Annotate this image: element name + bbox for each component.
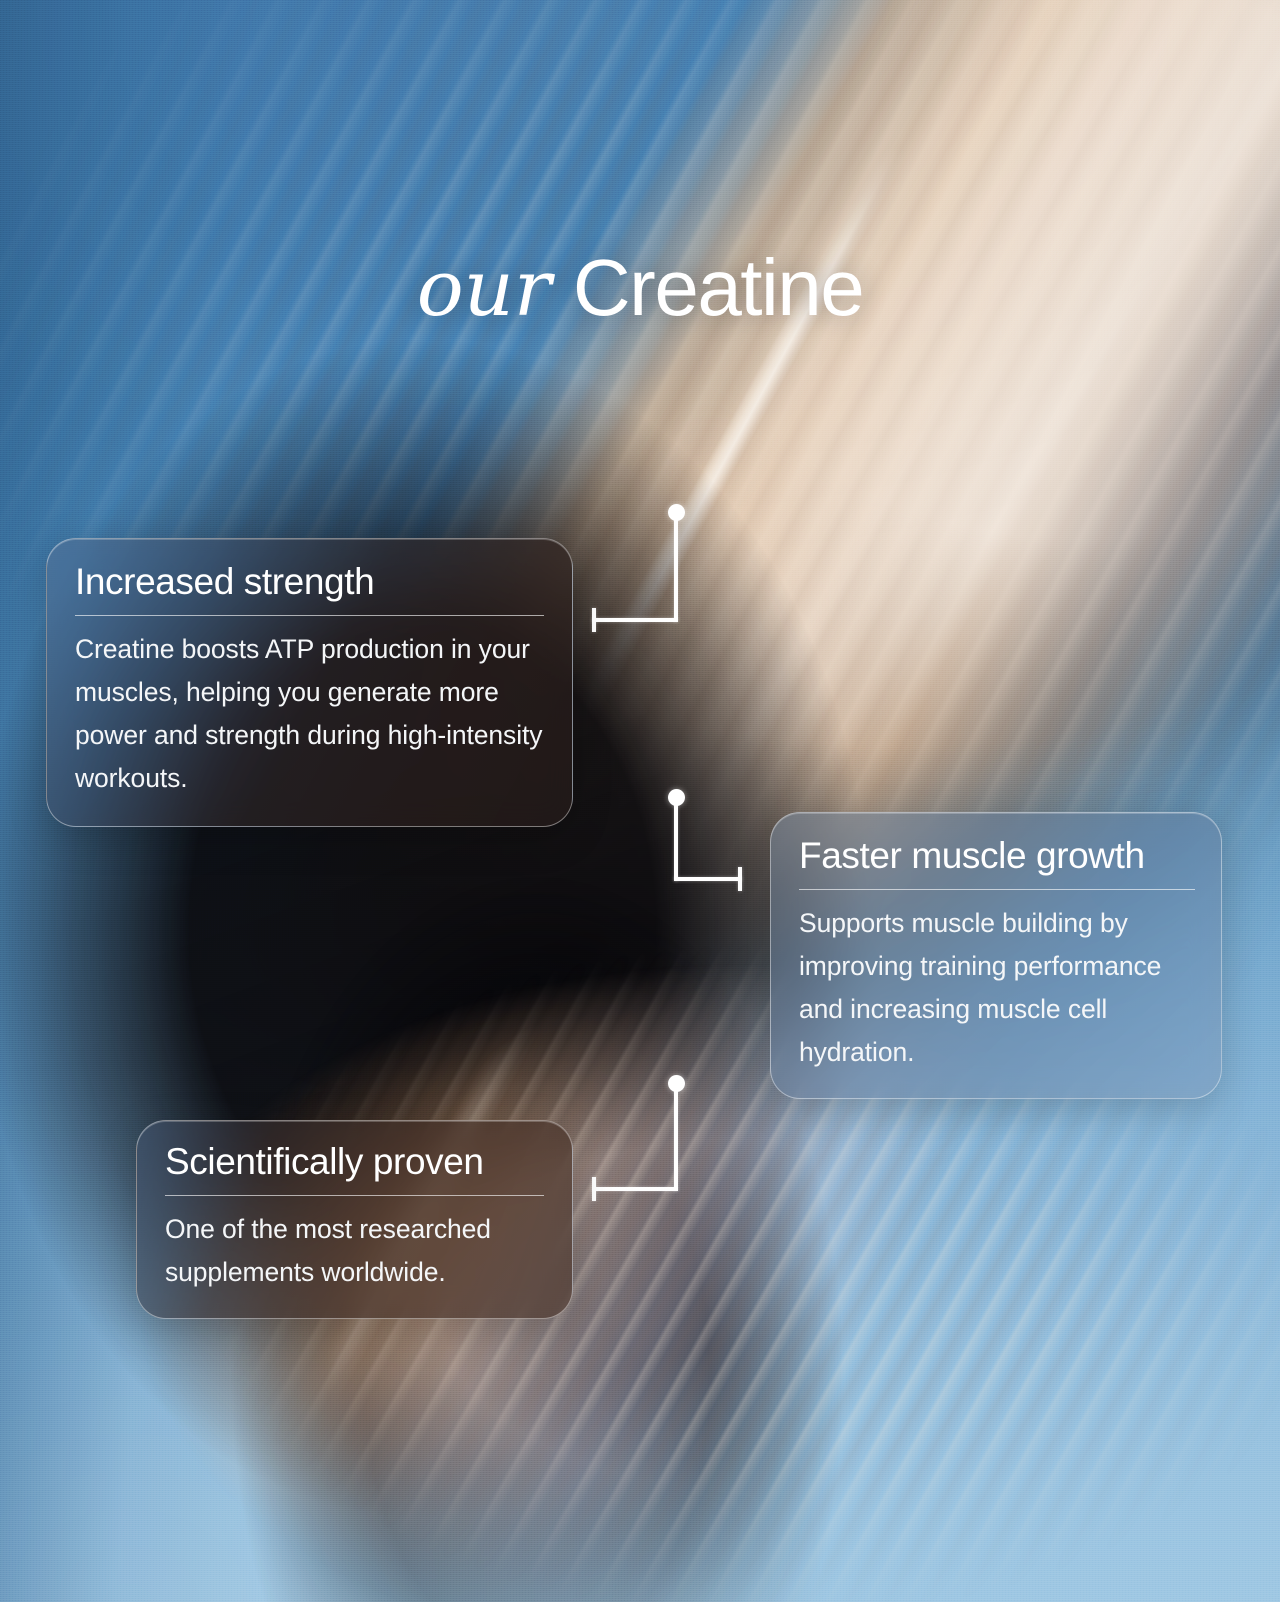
benefit-card-increased-strength: Increased strength Creatine boosts ATP p… [46,538,573,827]
page-title: our Creatine [0,246,1280,331]
card-content: Scientifically proven One of the most re… [137,1121,572,1318]
card-body-text: Supports muscle building by improving tr… [799,902,1195,1074]
connector-vertical-line [674,512,678,622]
connector-vertical-line [674,1083,678,1191]
card-divider [799,889,1195,890]
page-title-word-creatine: Creatine [573,243,863,332]
card-content: Faster muscle growth Supports muscle bui… [771,813,1221,1098]
creatine-benefits-poster: our Creatine Increased strength Creatine… [0,0,1280,1602]
card-divider [165,1195,544,1196]
connector-horizontal-line [592,1187,678,1191]
connector-horizontal-line [592,618,678,622]
connector-end-tick [592,1177,596,1201]
connector-vertical-line [674,797,678,881]
connector-end-tick [738,867,742,891]
card-content: Increased strength Creatine boosts ATP p… [47,539,572,826]
benefit-card-faster-muscle-growth: Faster muscle growth Supports muscle bui… [770,812,1222,1099]
connector-end-tick [592,608,596,632]
card-divider [75,615,544,616]
page-title-word-our: our [417,244,551,334]
card-title: Scientifically proven [165,1141,544,1182]
benefit-card-scientifically-proven: Scientifically proven One of the most re… [136,1120,573,1319]
card-title: Increased strength [75,561,544,602]
card-body-text: Creatine boosts ATP production in your m… [75,628,544,800]
connector-horizontal-line [674,877,742,881]
card-body-text: One of the most researched supplements w… [165,1208,544,1294]
card-title: Faster muscle growth [799,835,1195,876]
